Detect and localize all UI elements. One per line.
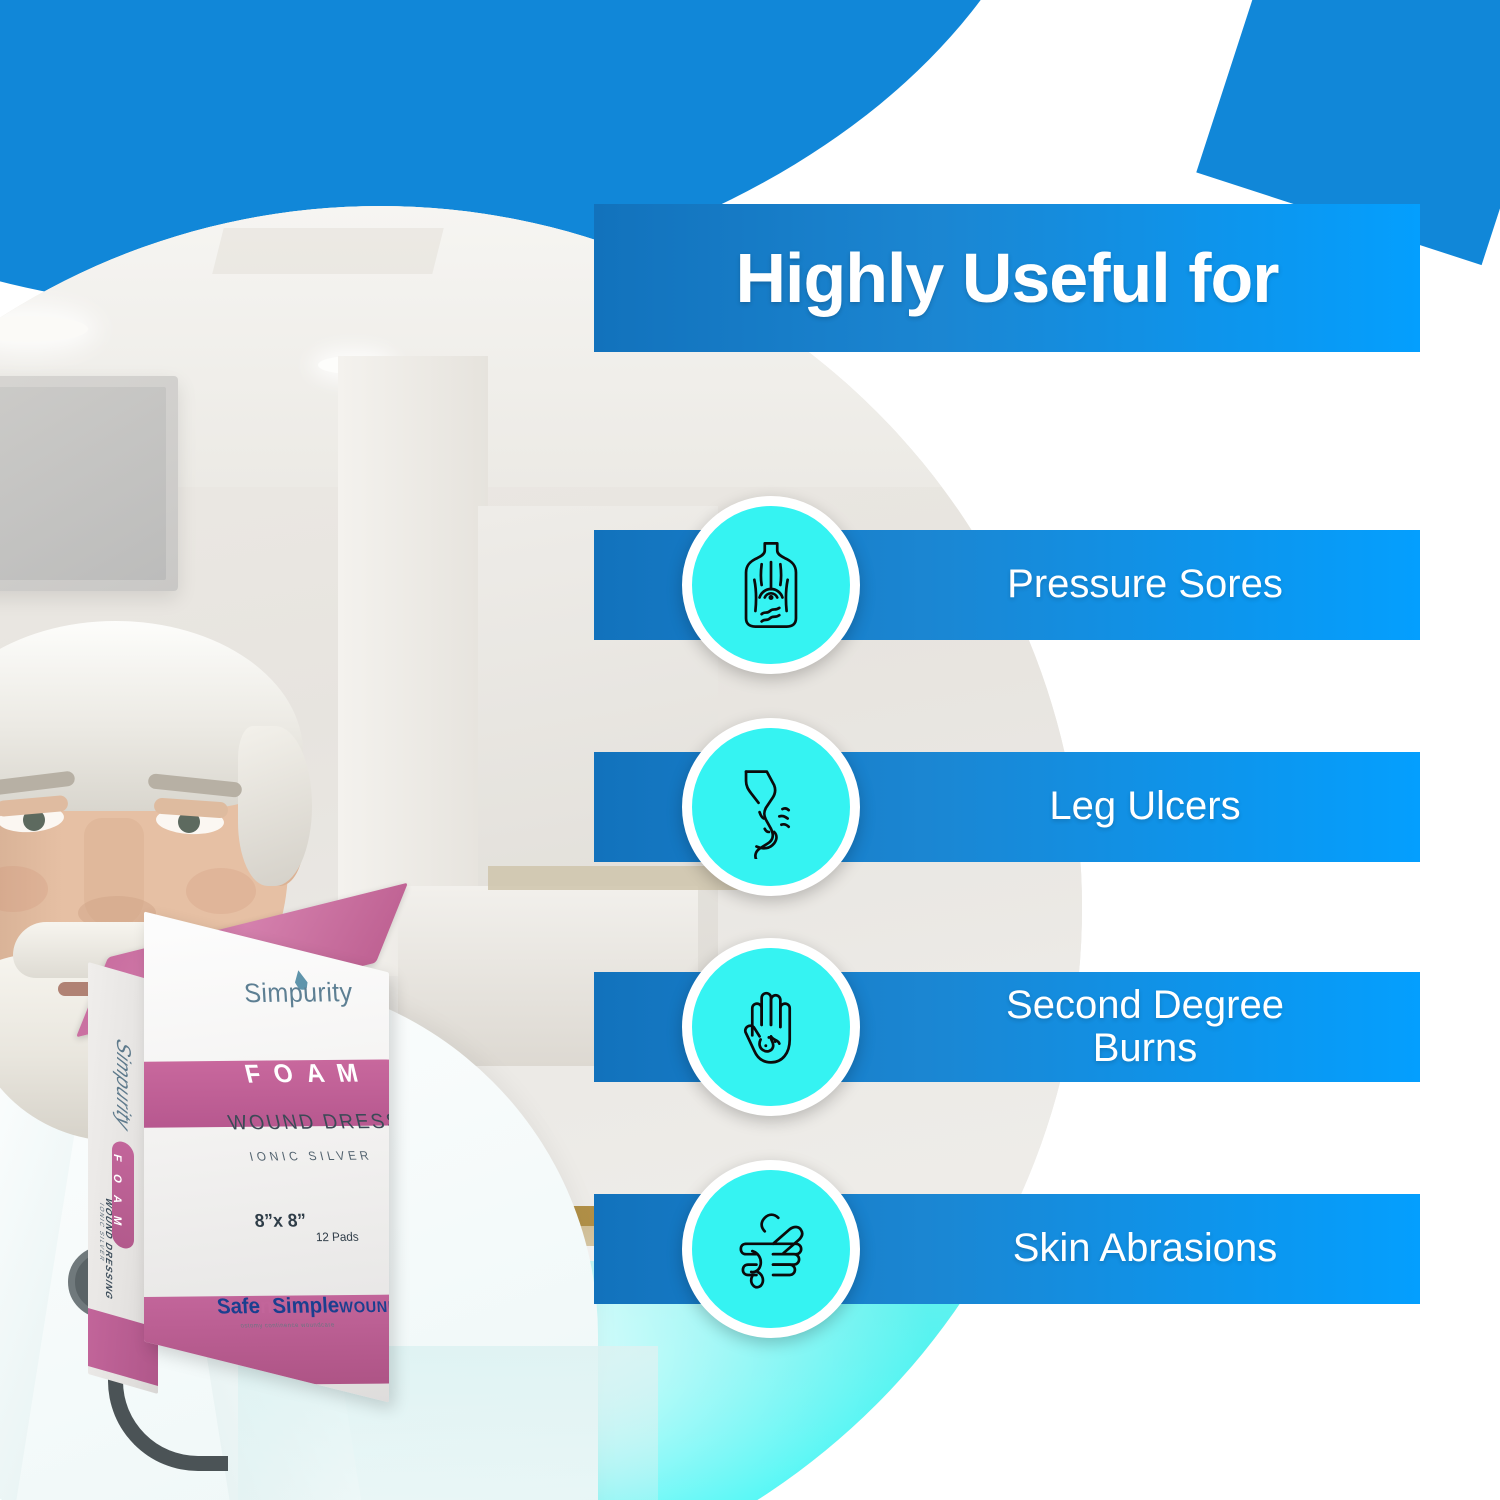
wall-monitor-screen — [0, 387, 166, 580]
product-size-label: 8”x 8” — [252, 1210, 309, 1232]
page-title: Highly Useful for — [735, 238, 1278, 318]
feature-label-second-degree-burns: Second Degree Burns — [894, 972, 1396, 1082]
product-box: Simpurity WOUND DRESSING IONIC SILVER 8”… — [78, 920, 438, 1440]
product-variant-label: IONIC SILVER — [248, 1148, 374, 1164]
wall-column — [338, 356, 488, 976]
leg-ulcer-icon — [682, 718, 860, 896]
company-name-safe: Safe — [214, 1295, 263, 1319]
company-name-simple: Simple — [269, 1294, 341, 1318]
product-count-label: 12 Pads — [314, 1229, 360, 1244]
feature-label-leg-ulcers: Leg Ulcers — [894, 752, 1396, 862]
company-logo: SafenSimpleWOUNDCARE — [214, 1293, 389, 1320]
ceiling-panel — [212, 228, 443, 274]
header-banner: Highly Useful for — [594, 204, 1420, 352]
back-torso-pressure-icon — [682, 496, 860, 674]
side-product-type-label: F O A M — [111, 1153, 123, 1232]
hair-side-right — [238, 726, 312, 886]
cheek-right — [186, 868, 256, 914]
feature-label-pressure-sores: Pressure Sores — [894, 530, 1396, 640]
side-brand-label: Simpurity — [111, 1034, 134, 1135]
hand-burn-icon — [682, 938, 860, 1116]
product-marketing-banner: Simpurity WOUND DRESSING IONIC SILVER 8”… — [0, 0, 1500, 1500]
company-category-label: WOUNDCARE — [337, 1298, 389, 1316]
brand-logo-label: Simpurity — [240, 976, 356, 1009]
company-tagline-label: ostomy continence woundcare — [240, 1323, 336, 1330]
feature-label-skin-abrasions: Skin Abrasions — [894, 1194, 1396, 1304]
product-type-label: FOAM — [242, 1059, 375, 1090]
product-descriptor-label: WOUND DRESSING — [226, 1110, 389, 1136]
box-front-face: Simpurity FOAM WOUND DRESSING IONIC SILV… — [144, 911, 389, 1402]
hand-abrasion-icon — [682, 1160, 860, 1338]
side-variant-label: IONIC SILVER — [98, 1201, 104, 1263]
